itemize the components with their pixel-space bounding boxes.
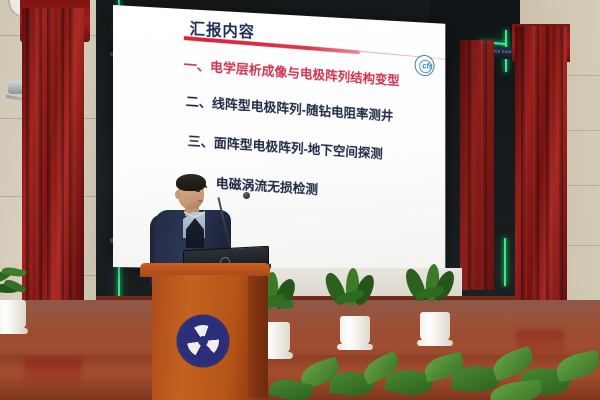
podium-side xyxy=(248,276,268,398)
slide-title-rule xyxy=(184,36,360,54)
slide-bullet-2: 二、线阵型电极阵列-随钻电阻率测井 xyxy=(185,90,393,124)
presentation-photo-scene: CONFERENCE DISPLAY 汇报内容 一、电学层析成像与电极阵列结构变… xyxy=(0,0,600,400)
slide-bullet-3: 三、面阵型电极阵列-地下空间探测 xyxy=(187,130,383,163)
podium-emblem-icon xyxy=(178,316,228,366)
slide-corner-logo-icon: cfs xyxy=(415,55,435,77)
microphone-head-icon xyxy=(243,192,250,199)
slide-bullet-4: 四、电磁涡流无损检测 xyxy=(189,170,318,198)
curtain-reflection-left xyxy=(24,358,82,392)
presenter-ear xyxy=(175,190,181,199)
slide-bullet-1: 一、电学层析成像与电极阵列结构变型 xyxy=(184,54,400,90)
emblem-core-icon xyxy=(198,336,208,346)
curtain-right-inner xyxy=(460,40,494,290)
accent-strip-right-lower xyxy=(504,238,506,286)
presenter-hair xyxy=(176,174,206,191)
presenter-mouth xyxy=(198,200,203,202)
presenter-eye xyxy=(196,190,200,192)
curtain-right xyxy=(515,26,567,344)
